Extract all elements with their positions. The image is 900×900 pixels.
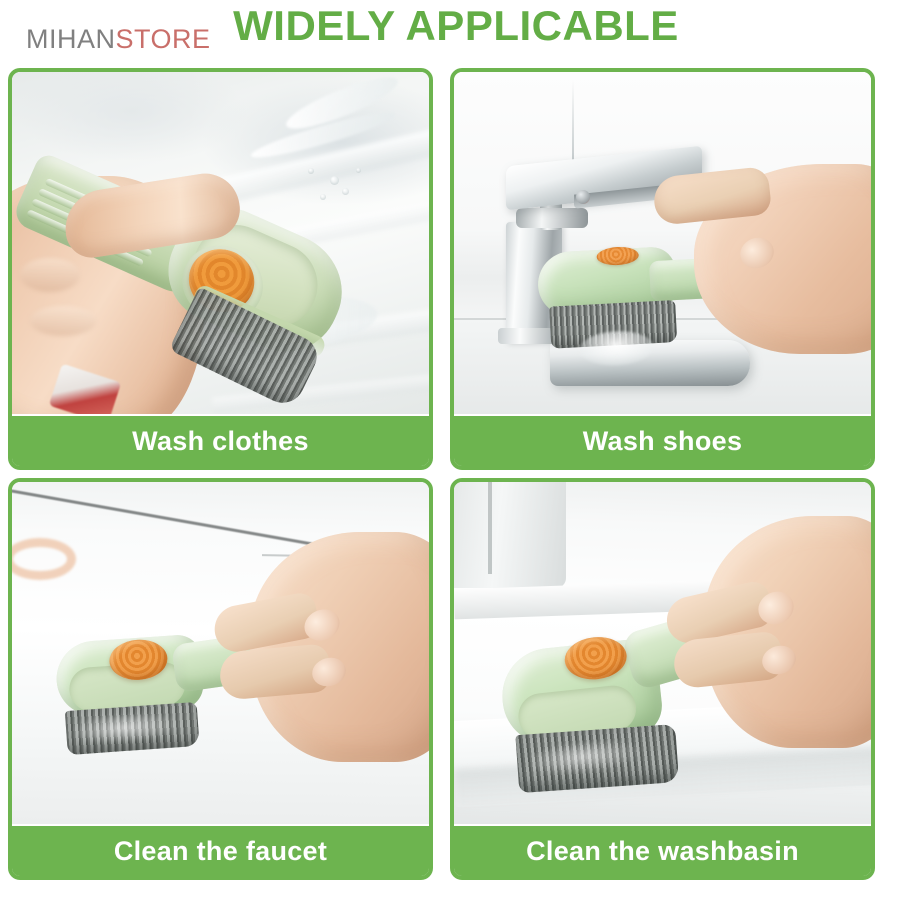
photo-wash-shoes [454,72,871,414]
caption-wash-clothes: Wash clothes [12,414,429,466]
caption-clean-the-faucet: Clean the faucet [12,824,429,876]
basin-edge [488,482,492,574]
feature-grid: Wash clothes [8,68,892,888]
header: WIDELY APPLICABLE MIHANSTORE [0,0,900,62]
caption-clean-the-washbasin: Clean the washbasin [454,824,871,876]
knuckle-shading [30,306,96,336]
watermark-brand-primary: MIHAN [26,24,116,54]
watermark: MIHANSTORE [26,24,211,55]
counter-edge [12,487,330,549]
feature-card-wash-clothes[interactable]: Wash clothes [8,68,433,470]
photo-clean-the-faucet [12,482,429,824]
soap-suds [342,188,349,195]
background-edge [572,80,574,168]
soap-suds [330,176,339,185]
faucet-collar [516,208,588,228]
product-feature-image: WIDELY APPLICABLE MIHANSTORE [0,0,900,900]
soap-suds [308,168,314,174]
soap-suds [320,194,326,200]
watermark-brand-secondary: STORE [116,24,211,54]
basin-backsplash [454,482,566,588]
faucet-screw [576,190,590,204]
photo-wash-clothes [12,72,429,414]
feature-card-wash-shoes[interactable]: Wash shoes [450,68,875,470]
feature-card-clean-the-washbasin[interactable]: Clean the washbasin [450,478,875,880]
soap-suds [356,168,361,173]
feature-card-clean-the-faucet[interactable]: Clean the faucet [8,478,433,880]
photo-clean-the-washbasin [454,482,871,824]
background-object [12,538,76,580]
caption-wash-shoes: Wash shoes [454,414,871,466]
